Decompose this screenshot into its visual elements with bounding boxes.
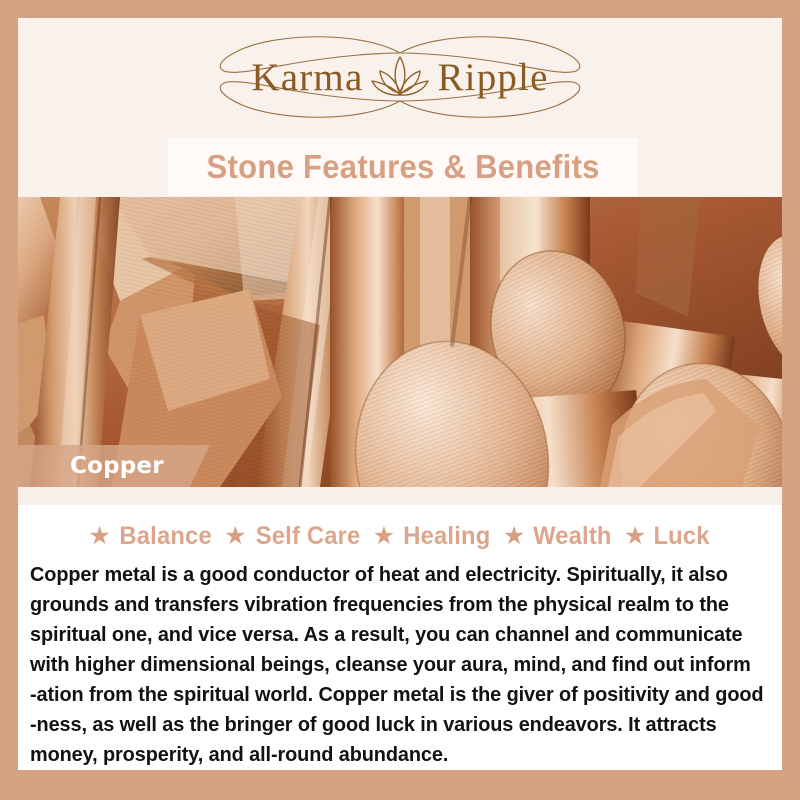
- hero-photo: Copper: [18, 197, 782, 487]
- brand-name-left: Karma: [251, 58, 363, 97]
- logo-wrap: Karma Ripple: [190, 33, 610, 121]
- inner-page: Karma Ripple Stone Feature: [18, 18, 782, 770]
- star-icon: ★: [224, 524, 246, 549]
- infographic-card: Karma Ripple Stone Feature: [0, 0, 800, 800]
- description-line: with higher dimensional beings, cleanse …: [30, 650, 748, 680]
- content-panel: ★ Balance ★ Self Care ★ Healing ★ Wealth…: [18, 505, 782, 770]
- star-icon: ★: [373, 524, 395, 549]
- description-text: Copper metal is a good conductor of heat…: [18, 560, 782, 770]
- benefit-label: Luck: [654, 522, 710, 551]
- benefit-label: Wealth: [533, 522, 612, 551]
- benefit-label: Balance: [119, 522, 211, 551]
- brand-name-right: Ripple: [437, 58, 548, 97]
- description-line: -ness, as well as the bringer of good lu…: [30, 710, 748, 740]
- logo-row: Karma Ripple: [251, 51, 548, 103]
- description-line: grounds and transfers vibration frequenc…: [30, 590, 748, 620]
- stone-name: Copper: [70, 453, 164, 479]
- stone-label-badge: Copper: [18, 445, 210, 487]
- brand-logo: Karma Ripple: [18, 18, 782, 136]
- description-line: -ation from the spiritual world. Copper …: [30, 680, 748, 710]
- benefit-luck: ★ Luck: [619, 522, 717, 551]
- divider-strip: [18, 487, 782, 505]
- description-line: spiritual one, and vice versa. As a resu…: [30, 620, 748, 650]
- lotus-icon: [369, 51, 431, 103]
- benefit-self-care: ★ Self Care: [219, 522, 368, 551]
- benefit-wealth: ★ Wealth: [498, 522, 619, 551]
- star-icon: ★: [624, 524, 646, 549]
- star-icon: ★: [503, 524, 525, 549]
- copper-bars-photo: [18, 197, 782, 487]
- title-band: Stone Features & Benefits: [168, 138, 638, 196]
- page-title: Stone Features & Benefits: [206, 148, 599, 186]
- description-line: money, prosperity, and all-round abundan…: [30, 740, 748, 770]
- benefit-label: Healing: [403, 522, 490, 551]
- benefit-balance: ★ Balance: [83, 522, 219, 551]
- benefit-label: Self Care: [255, 522, 360, 551]
- star-icon: ★: [88, 524, 110, 549]
- description-line: Copper metal is a good conductor of heat…: [30, 560, 748, 590]
- benefits-row: ★ Balance ★ Self Care ★ Healing ★ Wealth…: [18, 505, 782, 551]
- benefit-healing: ★ Healing: [368, 522, 498, 551]
